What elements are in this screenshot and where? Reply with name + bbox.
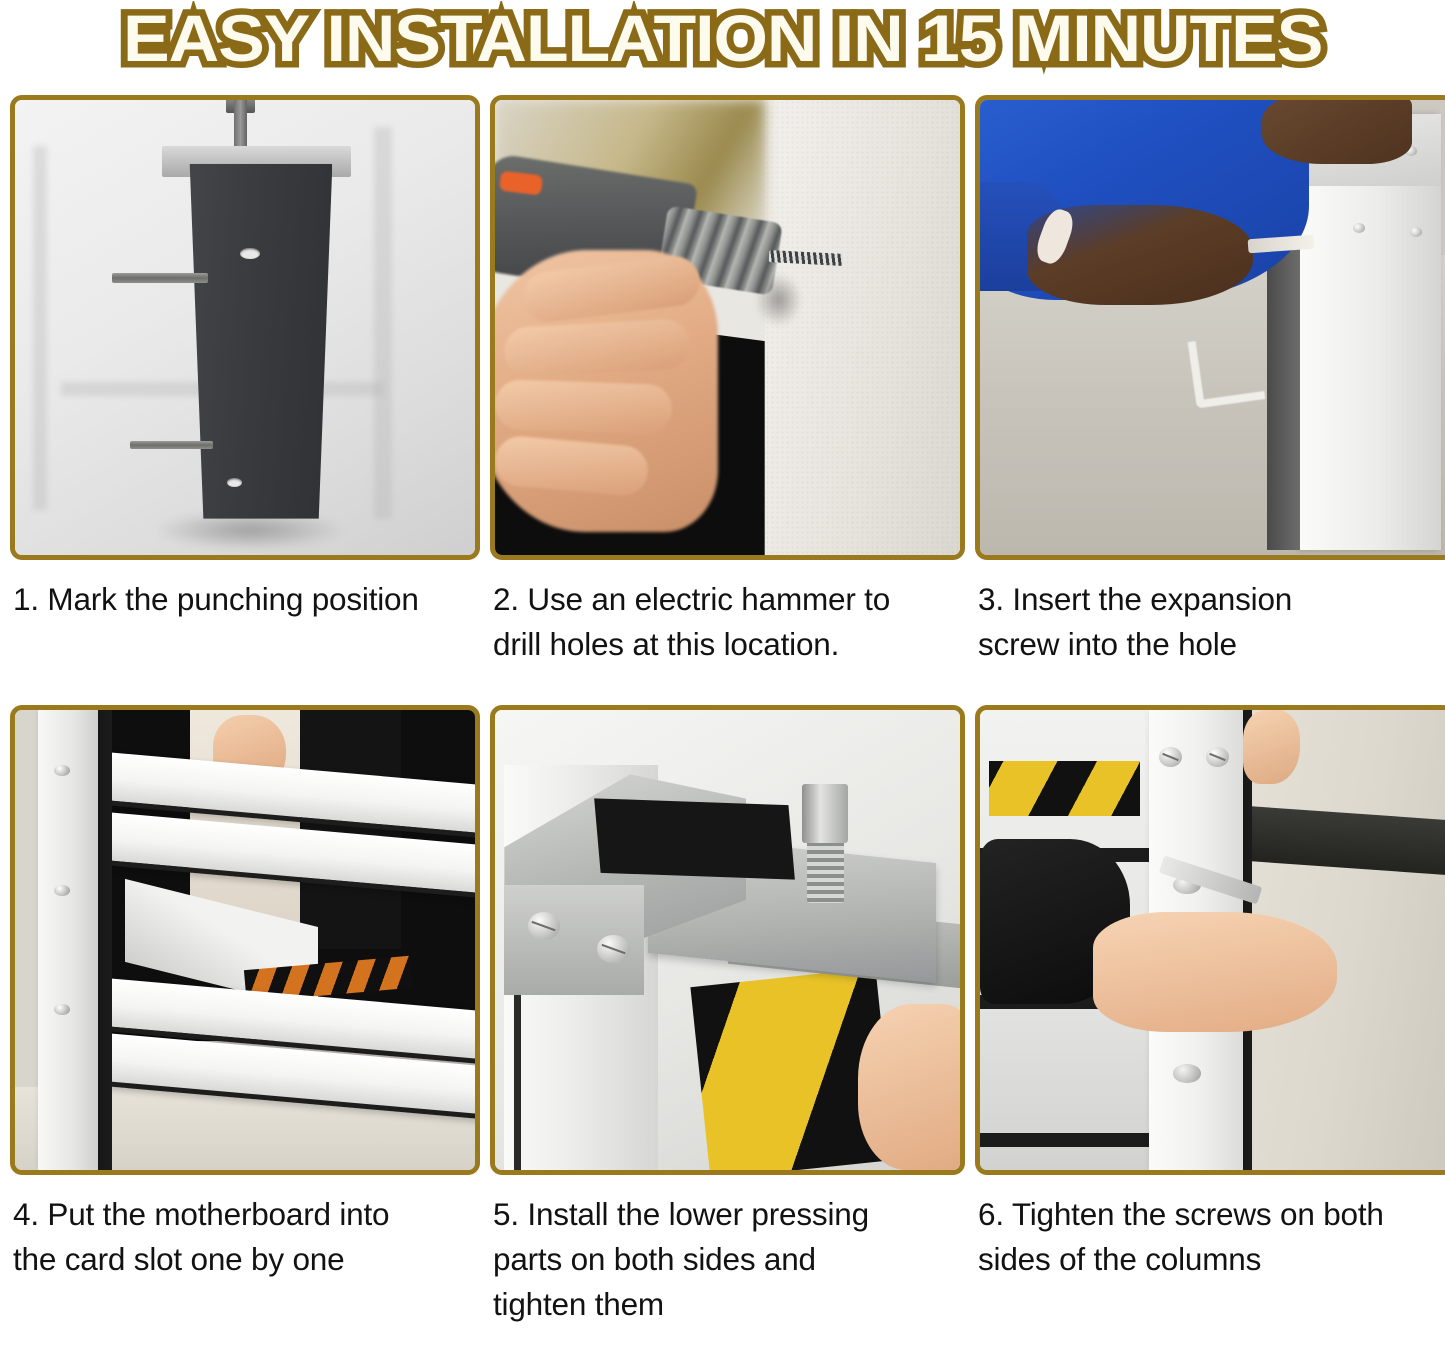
steps-row-bottom: 4. Put the motherboard into the card slo… bbox=[0, 705, 1445, 1320]
step-caption-1: 1. Mark the punching position bbox=[10, 577, 480, 622]
step-photo-frame-2[interactable] bbox=[490, 95, 965, 560]
caption-line: screw into the hole bbox=[978, 622, 1445, 667]
step-card-3: 3. Insert the expansion screw into the h… bbox=[975, 95, 1445, 705]
step-caption-6: 6. Tighten the screws on both sides of t… bbox=[975, 1192, 1445, 1282]
caption-line: sides of the columns bbox=[978, 1237, 1445, 1282]
step-photo-frame-3[interactable] bbox=[975, 95, 1445, 560]
step-card-6: 6. Tighten the screws on both sides of t… bbox=[975, 705, 1445, 1327]
inserting-expansion-screw-photo bbox=[980, 100, 1445, 555]
tightening-column-screws-photo bbox=[980, 710, 1445, 1170]
caption-line: 4. Put the motherboard into bbox=[13, 1192, 480, 1237]
caption-line: 1. Mark the punching position bbox=[13, 577, 480, 622]
lower-pressing-part-bracket-photo bbox=[495, 710, 960, 1170]
boards-into-card-slot-photo bbox=[15, 710, 475, 1170]
caption-line: 3. Insert the expansion bbox=[978, 577, 1445, 622]
caption-line: tighten them bbox=[493, 1282, 965, 1327]
step-caption-4: 4. Put the motherboard into the card slo… bbox=[10, 1192, 480, 1282]
page-title: EASY INSTALLATION IN 15 MINUTES bbox=[123, 2, 1322, 74]
caption-line: 2. Use an electric hammer to bbox=[493, 577, 965, 622]
caption-line: parts on both sides and bbox=[493, 1237, 965, 1282]
step-caption-3: 3. Insert the expansion screw into the h… bbox=[975, 577, 1445, 667]
steps-row-top: 1. Mark the punching position 2. bbox=[0, 95, 1445, 705]
step-caption-2: 2. Use an electric hammer to drill holes… bbox=[490, 577, 965, 667]
step-photo-frame-5[interactable] bbox=[490, 705, 965, 1175]
step-card-2: 2. Use an electric hammer to drill holes… bbox=[490, 95, 965, 705]
step-card-5: 5. Install the lower pressing parts on b… bbox=[490, 705, 965, 1327]
step-photo-frame-4[interactable] bbox=[10, 705, 480, 1175]
caption-line: 6. Tighten the screws on both bbox=[978, 1192, 1445, 1237]
caption-line: drill holes at this location. bbox=[493, 622, 965, 667]
title-banner: EASY INSTALLATION IN 15 MINUTES bbox=[0, 0, 1445, 95]
step-card-4: 4. Put the motherboard into the card slo… bbox=[10, 705, 480, 1327]
caption-line: 5. Install the lower pressing bbox=[493, 1192, 965, 1237]
step-card-1: 1. Mark the punching position bbox=[10, 95, 480, 705]
drilling-hole-in-wall-photo bbox=[495, 100, 960, 555]
step-caption-5: 5. Install the lower pressing parts on b… bbox=[490, 1192, 965, 1327]
step-photo-frame-1[interactable] bbox=[10, 95, 480, 560]
step-photo-frame-6[interactable] bbox=[975, 705, 1445, 1175]
caption-line: the card slot one by one bbox=[13, 1237, 480, 1282]
mounting-plate-on-white-cloth-photo bbox=[15, 100, 475, 555]
